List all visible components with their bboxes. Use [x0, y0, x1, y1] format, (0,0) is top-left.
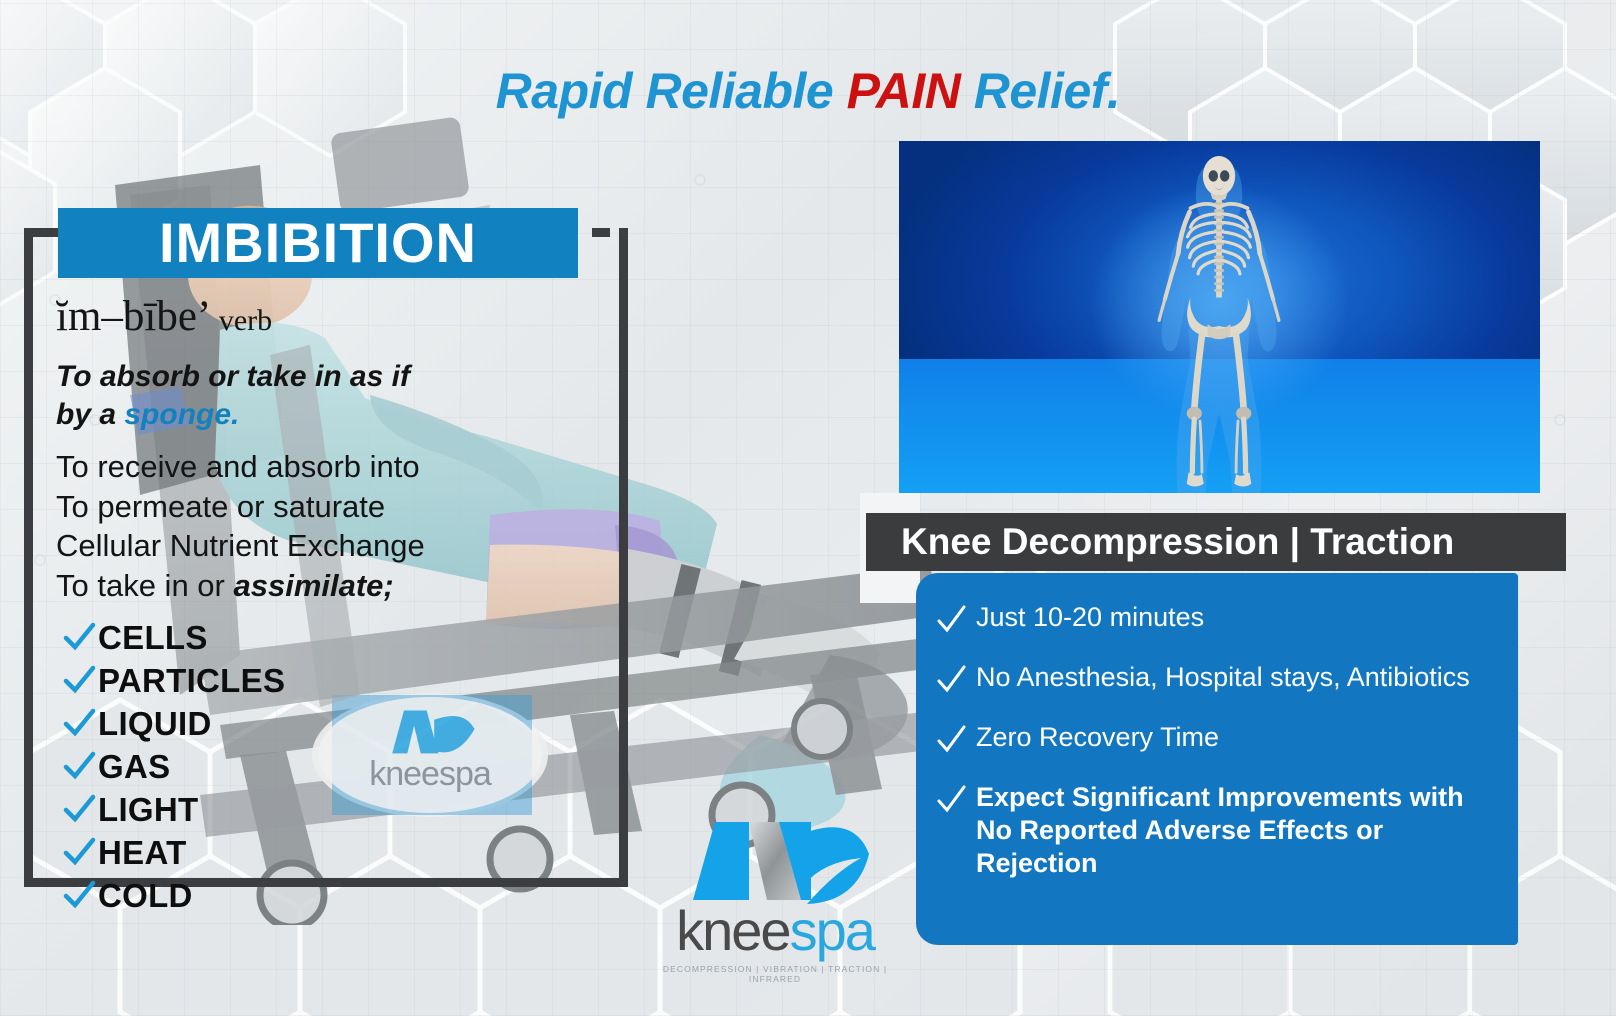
assimilate-word: assimilate; [233, 568, 393, 603]
check-icon [62, 621, 96, 655]
sponge-word: sponge. [124, 398, 239, 431]
imbibition-checklist: CELLS PARTICLES LIQUID GAS LIGHT [62, 616, 285, 917]
checklist-item: PARTICLES [62, 659, 285, 702]
kneespa-logo: kneespa DECOMPRESSION | VIBRATION | TRAC… [660, 812, 890, 984]
check-icon [62, 836, 96, 870]
page-headline: Rapid Reliable PAIN Relief. [0, 62, 1616, 120]
headline-part1: Rapid Reliable [496, 63, 847, 119]
benefits-panel: Just 10-20 minutes No Anesthesia, Hospit… [916, 573, 1518, 945]
benefit-label: Expect Significant Improvements with No … [976, 781, 1492, 880]
check-icon [62, 879, 96, 913]
definition-italic-line2-pre: by a [56, 398, 124, 431]
definition-italic: To absorb or take in as if by a sponge. [56, 358, 516, 433]
skeleton-image-panel [899, 141, 1540, 493]
checklist-item: COLD [62, 874, 285, 917]
headline-part2: Relief. [960, 63, 1120, 119]
product-title: Knee Decompression | Traction [866, 513, 1566, 571]
checklist-item-label: GAS [98, 748, 170, 786]
logo-tagline: DECOMPRESSION | VIBRATION | TRACTION | I… [660, 964, 890, 984]
checklist-item-label: LIQUID [98, 705, 212, 743]
benefit-label: Just 10-20 minutes [976, 601, 1204, 635]
checklist-item: HEAT [62, 831, 285, 874]
poster-canvas: kneespa Rapid Reliable PAIN Relief. IMBI… [0, 0, 1616, 1016]
checklist-item: LIGHT [62, 788, 285, 831]
part-of-speech: verb [219, 304, 272, 337]
definition-line-4-pre: To take in or [56, 568, 233, 603]
headline-pain: PAIN [847, 63, 961, 119]
kneespa-mark-icon [660, 812, 890, 904]
checklist-item-label: CELLS [98, 619, 208, 657]
definition-line-4: To take in or assimilate; [56, 566, 516, 606]
benefit-label: No Anesthesia, Hospital stays, Antibioti… [976, 661, 1470, 695]
check-icon [62, 664, 96, 698]
product-title-bar: Knee Decompression | Traction [866, 513, 1566, 571]
phonetic-line: ĭm–bībe’ verb [56, 292, 272, 341]
imbibition-title: IMBIBITION [58, 208, 578, 278]
imbibition-frame-top-right [592, 228, 610, 237]
benefit-item: No Anesthesia, Hospital stays, Antibioti… [916, 661, 1518, 695]
definition-plain-list: To receive and absorb into To permeate o… [56, 447, 516, 606]
checklist-item-label: HEAT [98, 834, 187, 872]
definition-block: To absorb or take in as if by a sponge. … [56, 358, 516, 606]
checklist-item-label: PARTICLES [98, 662, 285, 700]
kneespa-wordmark: kneespa [660, 904, 890, 957]
definition-line-1: To receive and absorb into [56, 447, 516, 487]
benefit-item: Just 10-20 minutes [916, 601, 1518, 635]
benefit-label: Zero Recovery Time [976, 721, 1219, 755]
phonetic-spelling: ĭm–bībe’ [56, 293, 208, 340]
checklist-item: LIQUID [62, 702, 285, 745]
logo-word-knee: knee [676, 899, 789, 962]
check-icon [936, 605, 966, 635]
check-icon [936, 785, 966, 815]
checklist-item: GAS [62, 745, 285, 788]
definition-italic-line1: To absorb or take in as if [56, 358, 516, 396]
checklist-item: CELLS [62, 616, 285, 659]
definition-line-2: To permeate or saturate [56, 487, 516, 527]
imbibition-title-bar: IMBIBITION [58, 208, 578, 278]
checklist-item-label: COLD [98, 877, 193, 915]
definition-line-3: Cellular Nutrient Exchange [56, 526, 516, 566]
definition-italic-line2: by a sponge. [56, 396, 516, 434]
check-icon [62, 793, 96, 827]
check-icon [62, 707, 96, 741]
checklist-item-label: LIGHT [98, 791, 198, 829]
logo-word-spa: spa [790, 899, 874, 962]
check-icon [936, 665, 966, 695]
check-icon [936, 725, 966, 755]
check-icon [62, 750, 96, 784]
benefit-item: Expect Significant Improvements with No … [916, 781, 1518, 880]
benefit-item: Zero Recovery Time [916, 721, 1518, 755]
